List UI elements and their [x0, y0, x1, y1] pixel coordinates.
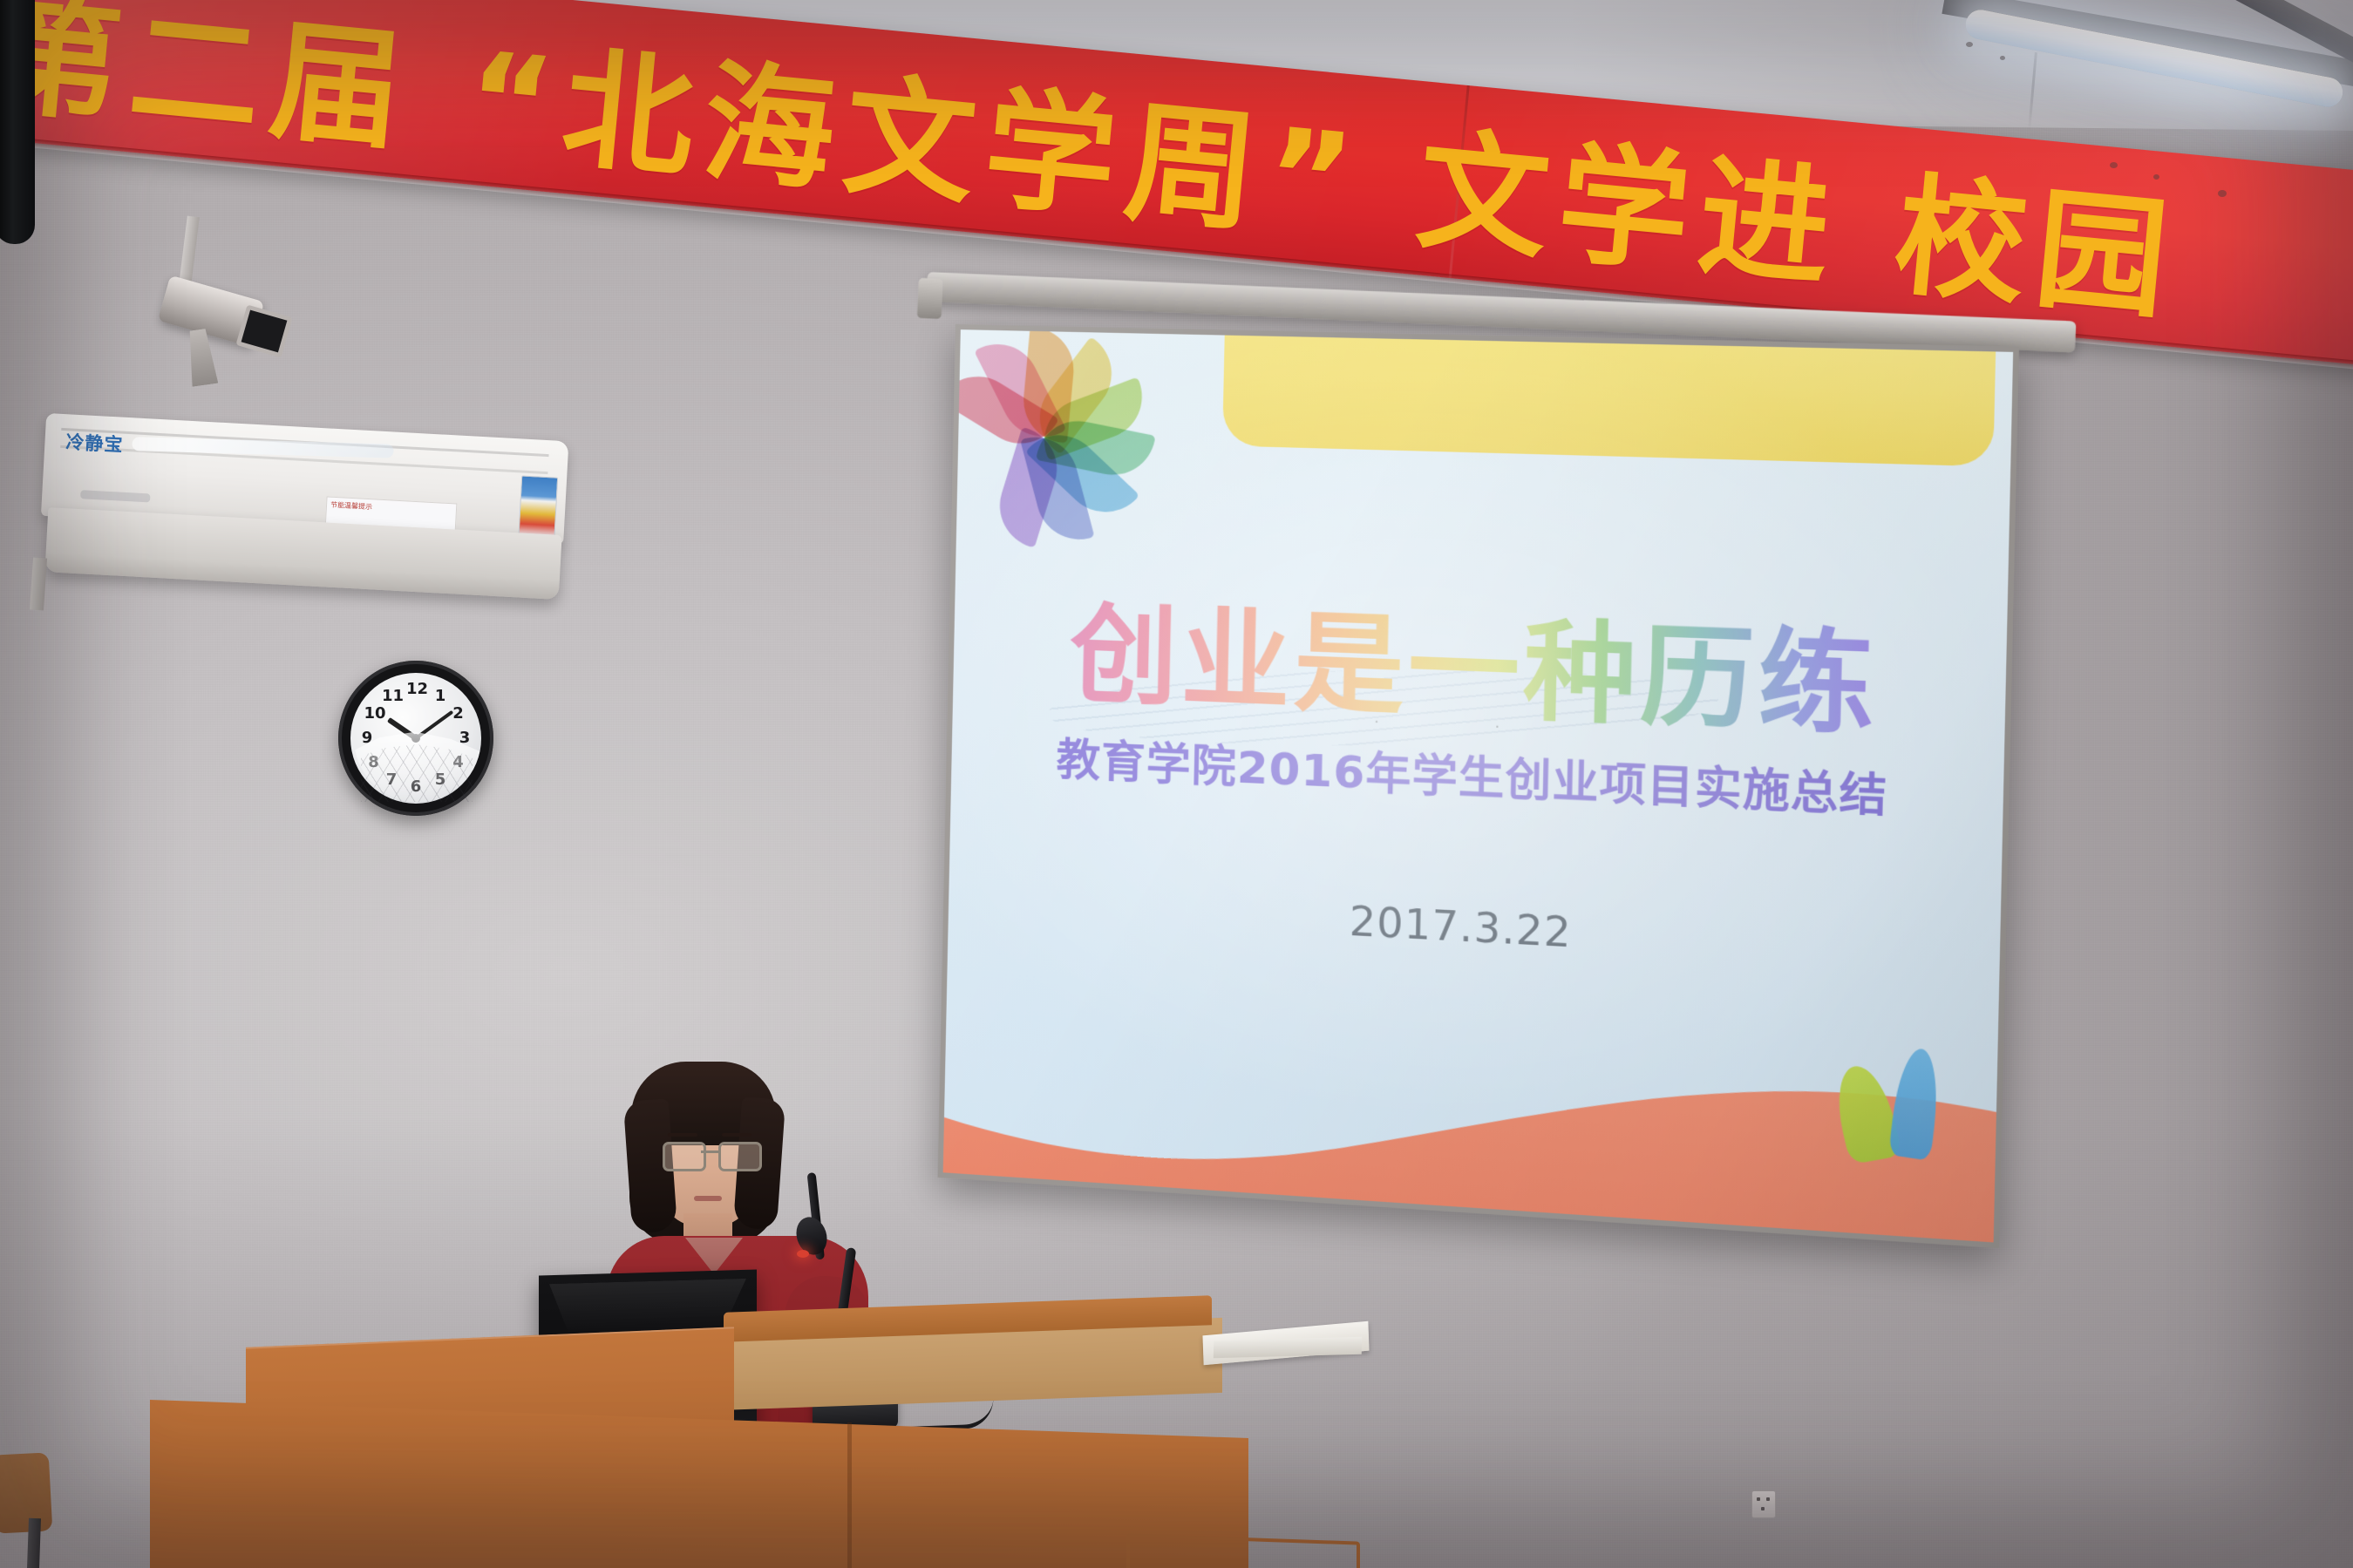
lectern	[246, 1388, 1222, 1568]
lectern-seam	[847, 1422, 852, 1568]
screen-frame: 创业是一种历练 · · 教育学院2016年学生创业项目实施总结 2017.3.2…	[938, 324, 2019, 1248]
outlet-hole-3	[1761, 1507, 1765, 1510]
screen-roller-end-cap	[917, 278, 943, 319]
presentation-slide: 创业是一种历练 · · 教育学院2016年学生创业项目实施总结 2017.3.2…	[943, 329, 2013, 1242]
clock-numeral-10: 10	[364, 704, 384, 723]
projection-screen: 创业是一种历练 · · 教育学院2016年学生创业项目实施总结 2017.3.2…	[938, 324, 2019, 1248]
wall-speaker	[0, 0, 35, 244]
slide-header-band	[1222, 329, 1997, 466]
chair-leg	[27, 1518, 41, 1568]
glasses-bridge	[701, 1151, 718, 1153]
wall-clock: 121234567891011	[338, 661, 493, 816]
presenter-brow-right	[722, 1133, 751, 1137]
presenter-mouth	[694, 1196, 722, 1201]
slide-flower-decoration-icon	[943, 329, 1165, 531]
chair-backrest	[0, 1452, 52, 1533]
ac-brand-label: 冷静宝	[65, 428, 125, 458]
air-conditioner: 冷静宝 节能温馨提示	[38, 413, 569, 598]
microphone-status-led	[797, 1250, 809, 1258]
glasses-lens-right	[718, 1142, 762, 1171]
wall-mark-1	[1966, 42, 1973, 47]
ac-energy-label	[518, 475, 558, 538]
outlet-hole-2	[1766, 1497, 1770, 1501]
wall-mark-5	[2218, 190, 2227, 197]
slide-date: 2017.3.22	[949, 877, 2001, 980]
glasses-icon	[663, 1142, 757, 1166]
ac-reflection	[132, 437, 393, 458]
lectern-front-panel	[150, 1400, 1248, 1568]
clock-numeral-1: 1	[431, 687, 450, 706]
ac-model-mark	[80, 490, 150, 502]
wall-mark-4	[2153, 174, 2159, 180]
outlet-hole-1	[1757, 1497, 1760, 1501]
monitor-screen-reflection	[549, 1279, 746, 1334]
glasses-lens-left	[663, 1142, 706, 1171]
presenter-brow-left	[668, 1133, 697, 1137]
clock-numeral-11: 11	[382, 687, 401, 706]
wall-mark-2	[2000, 56, 2005, 60]
clock-glass-reflection-pattern	[361, 744, 473, 802]
wall-power-outlet-icon[interactable]	[1751, 1490, 1776, 1518]
wall-mark-3	[2110, 162, 2118, 168]
clock-numeral-12: 12	[406, 680, 425, 699]
scene-photo: 第二届 “北海文学周” 文学进 校园 冷静宝 节能温馨提示 1212345678…	[0, 0, 2353, 1568]
